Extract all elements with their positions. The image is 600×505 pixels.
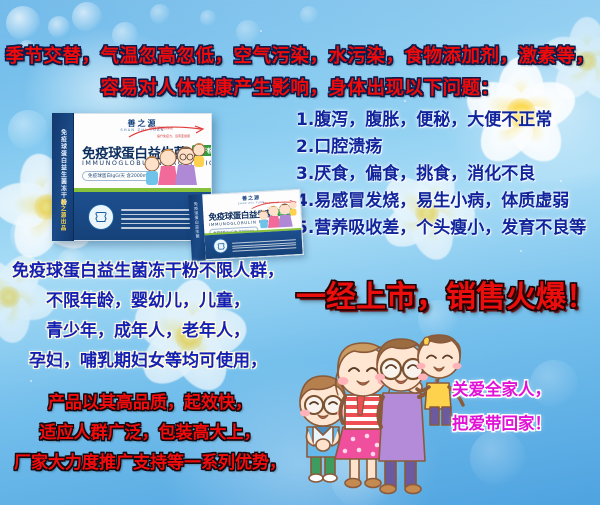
audience-line: 孕妇，哺乳期妇女等均可使用， [0, 353, 296, 370]
cartoon-family-illustration [281, 331, 481, 505]
bokeh-circle [72, 2, 102, 32]
advantage-line: 产品以其高品质，起效快， [0, 395, 300, 412]
plumeria-flower-icon [46, 206, 47, 207]
audience-line: 不限年龄，婴幼儿，儿童， [0, 293, 296, 310]
audience-line: 青少年，成年人，老年人， [0, 323, 296, 340]
list-item: 4.易感冒发烧，易生小病，体质虚弱 [296, 193, 596, 210]
package-feature-lines [232, 239, 297, 254]
advantages-paragraph: 产品以其高品质，起效快， 适应人群广泛，包装高大上， 厂家大力度推广支持等一系列… [0, 395, 300, 485]
bokeh-circle [8, 110, 48, 150]
bokeh-circle [300, 6, 318, 24]
speck [260, 30, 262, 32]
list-item: 2.口腔溃疡 [296, 139, 596, 156]
package-side-text: 免疫球蛋白益生菌 [193, 202, 202, 250]
love-slogan-line: 关爱全家人， [452, 382, 600, 399]
love-slogan-line: 把爱带回家！ [452, 416, 600, 433]
svg-text:健康好营养好体质: 健康好营养好体质 [149, 125, 173, 130]
speck [520, 250, 522, 252]
decorative-swoosh: 健康好营养好体质 提升免疫力，远离亚健康 [127, 124, 205, 142]
bokeh-circle [48, 16, 70, 38]
bokeh-circle [150, 4, 170, 24]
list-item: 1.腹泻，腹胀，便秘，大便不正常 [296, 112, 596, 129]
cartoon-boy [300, 376, 347, 482]
list-item: 5.营养吸收差，个头瘦小，发育不良等 [296, 220, 596, 237]
bokeh-circle [6, 6, 40, 40]
audience-paragraph: 免疫球蛋白益生菌冻干粉不限人群， 不限年龄，婴幼儿，儿童， 青少年，成年人，老年… [0, 263, 296, 383]
package-family-illustration [141, 142, 207, 188]
audience-line: 免疫球蛋白益生菌冻干粉不限人群， [0, 263, 296, 280]
package-side-panel: 免疫球蛋白益生菌冻干粉 善之源出品 [52, 113, 74, 241]
advantage-line: 适应人群广泛，包装高大上， [0, 425, 300, 442]
love-slogan: 关爱全家人， 把爱带回家！ [452, 382, 600, 449]
package-seal-icon [88, 204, 114, 230]
product-package-small: 免疫球蛋白益生菌 善之源 SHAN ZHI YUAN 健康好营养好体质 提升免疫… [188, 189, 304, 261]
bokeh-circle [200, 10, 216, 26]
bokeh-circle [10, 212, 56, 258]
headline-line-2: 容易对人体健康产生影响，身体出现以下问题： [0, 74, 600, 100]
promotional-poster: 季节交替，气温忽高忽低，空气污染，水污染，食物添加剂，激素等， 容易对人体健康产… [0, 0, 600, 505]
advantage-line: 厂家大力度推广支持等一系列优势， [0, 455, 300, 472]
list-item: 3.厌食，偏食，挑食，消化不良 [296, 166, 596, 183]
package-family-illustration [256, 200, 299, 230]
headline-line-1: 季节交替，气温忽高忽低，空气污染，水污染，食物添加剂，激素等， [0, 42, 600, 68]
package-seal-icon [213, 238, 229, 254]
product-package-large: 免疫球蛋白益生菌冻干粉 善之源出品 善之源 SHAN ZHI YUAN 健康好营… [52, 113, 212, 241]
sales-slogan: 一经上市，销售火爆！ [296, 272, 596, 316]
svg-text:提升免疫力，远离亚健康: 提升免疫力，远离亚健康 [157, 133, 190, 138]
package-side-badge: 善之源出品 [59, 199, 67, 232]
package-lower-band [205, 230, 303, 259]
package-front-face: 善之源 SHAN ZHI YUAN 健康好营养好体质 提升免疫力，远离亚健康 免… [202, 189, 304, 260]
speck [404, 100, 406, 102]
symptom-list: 1.腹泻，腹胀，便秘，大便不正常 2.口腔溃疡 3.厌食，偏食，挑食，消化不良 … [296, 112, 596, 247]
bokeh-circle [236, 20, 260, 44]
